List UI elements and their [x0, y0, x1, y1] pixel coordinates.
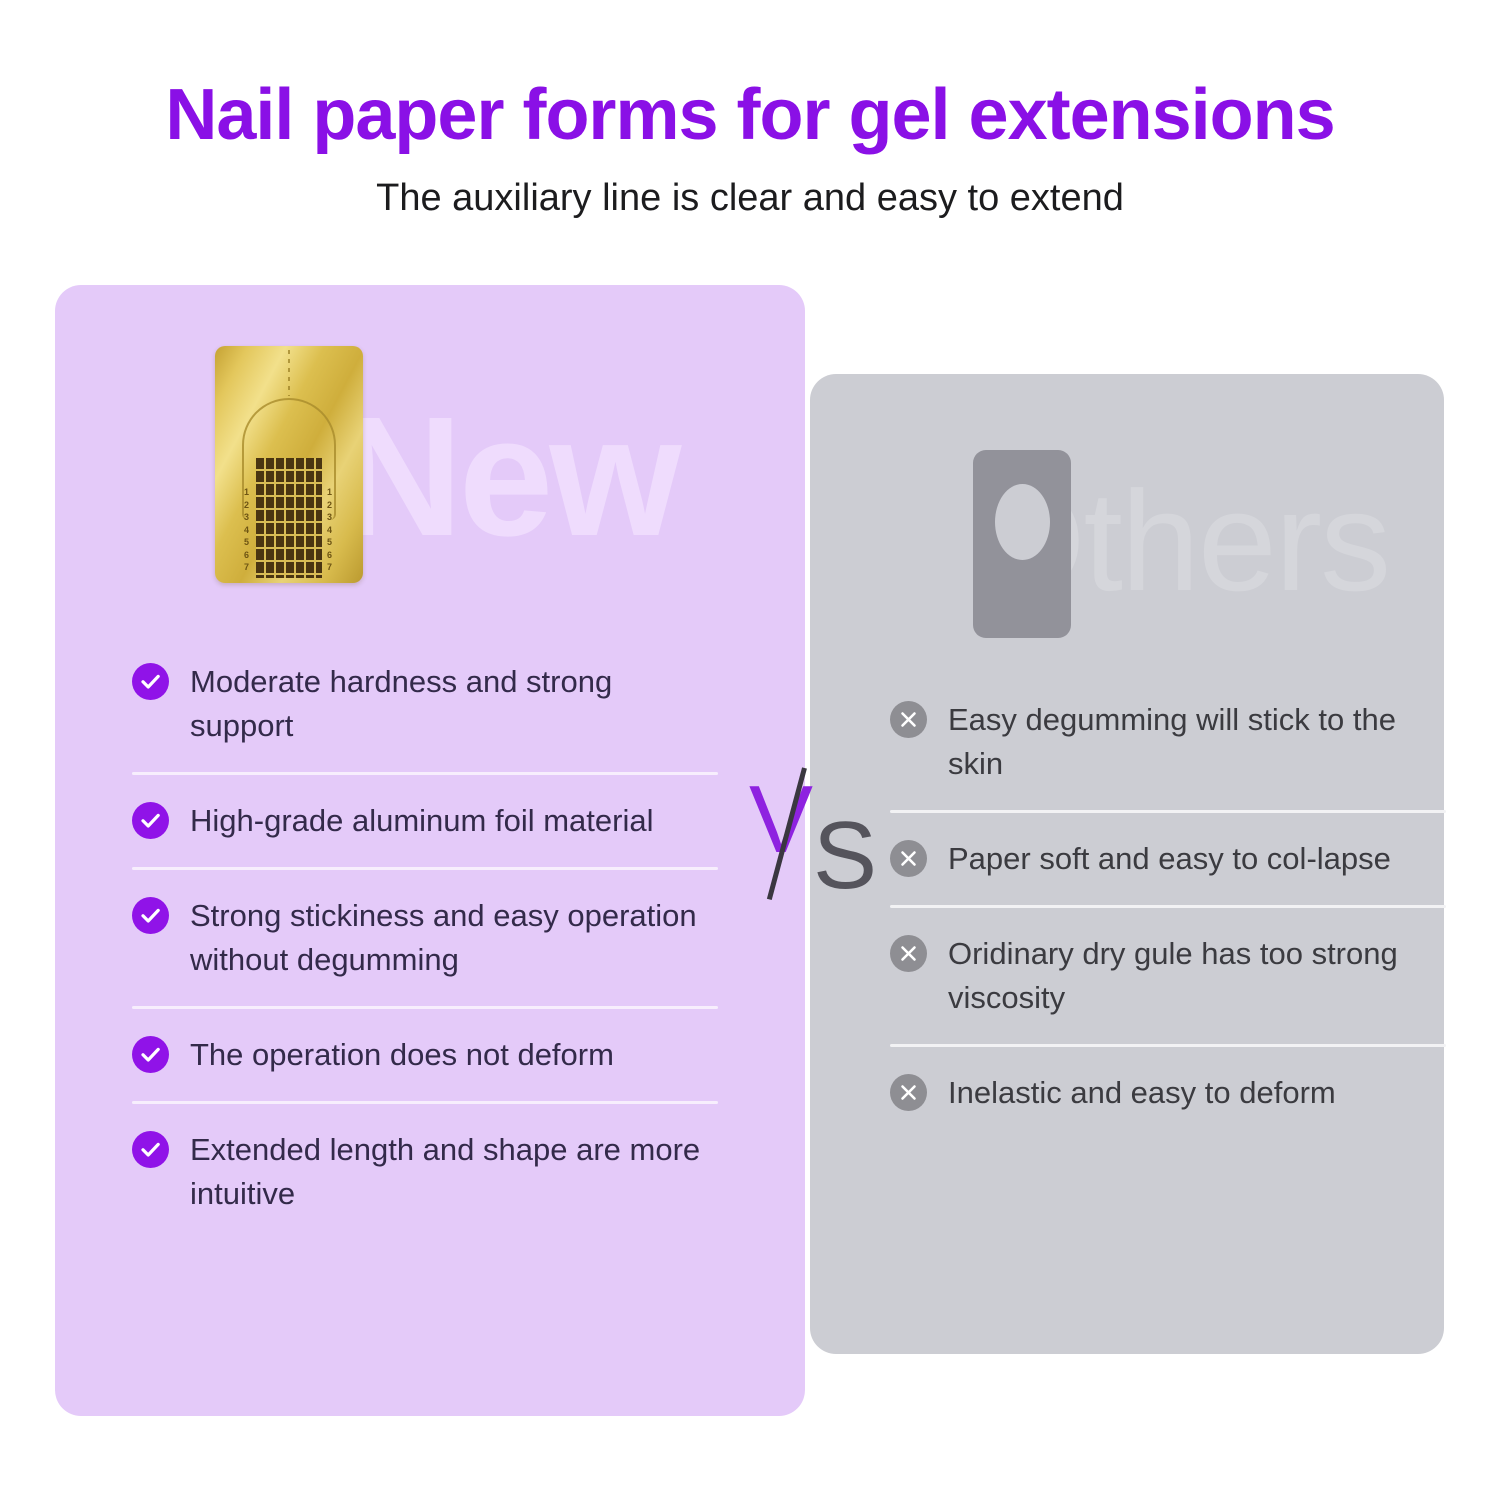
cross-icon — [890, 1074, 927, 1111]
page-subtitle: The auxiliary line is clear and easy to … — [0, 176, 1500, 222]
ruler-numbers-right: 1 2 3 4 5 6 7 — [327, 486, 332, 574]
list-item-label: Oridinary dry gule has too strong viscos… — [948, 932, 1446, 1020]
cross-icon — [890, 701, 927, 738]
others-drawback-list: Easy degumming will stick to the skin Pa… — [890, 698, 1446, 1115]
cross-icon — [890, 840, 927, 877]
center-dashed-line — [288, 350, 290, 396]
list-item: Paper soft and easy to col-lapse — [890, 837, 1446, 881]
ruler-numbers-left: 1 2 3 4 5 6 7 — [244, 486, 249, 574]
measurement-grid — [256, 458, 322, 578]
list-item-label: Inelastic and easy to deform — [948, 1071, 1336, 1115]
list-item: Strong stickiness and easy operation wit… — [132, 894, 718, 982]
cross-icon — [890, 935, 927, 972]
gold-aluminum-nail-form-image: 1 2 3 4 5 6 7 1 2 3 4 5 6 7 — [215, 346, 363, 583]
versus-s-letter: S — [813, 808, 877, 904]
list-item-label: Strong stickiness and easy operation wit… — [190, 894, 718, 982]
versus-badge: V S — [745, 772, 885, 902]
list-item-label: High-grade aluminum foil material — [190, 799, 653, 843]
gray-paper-nail-form-image — [973, 450, 1071, 638]
list-item-label: Moderate hardness and strong support — [190, 660, 718, 748]
list-item: Moderate hardness and strong support — [132, 660, 718, 748]
list-item: High-grade aluminum foil material — [132, 799, 718, 843]
check-icon — [132, 897, 169, 934]
list-item: The operation does not deform — [132, 1033, 718, 1077]
check-icon — [132, 802, 169, 839]
list-item: Inelastic and easy to deform — [890, 1071, 1446, 1115]
list-item-label: The operation does not deform — [190, 1033, 614, 1077]
watermark-new: New — [340, 392, 678, 562]
oval-cutout-shape — [995, 484, 1050, 560]
check-icon — [132, 1131, 169, 1168]
list-item-label: Easy degumming will stick to the skin — [948, 698, 1446, 786]
list-item: Easy degumming will stick to the skin — [890, 698, 1446, 786]
list-item: Oridinary dry gule has too strong viscos… — [890, 932, 1446, 1020]
list-item-label: Paper soft and easy to col-lapse — [948, 837, 1391, 881]
infographic-page: Nail paper forms for gel extensions The … — [0, 0, 1500, 1500]
new-feature-list: Moderate hardness and strong support Hig… — [132, 660, 718, 1216]
list-item: Extended length and shape are more intui… — [132, 1128, 718, 1216]
page-title: Nail paper forms for gel extensions — [0, 78, 1500, 154]
check-icon — [132, 663, 169, 700]
header: Nail paper forms for gel extensions The … — [0, 0, 1500, 221]
check-icon — [132, 1036, 169, 1073]
list-item-label: Extended length and shape are more intui… — [190, 1128, 718, 1216]
